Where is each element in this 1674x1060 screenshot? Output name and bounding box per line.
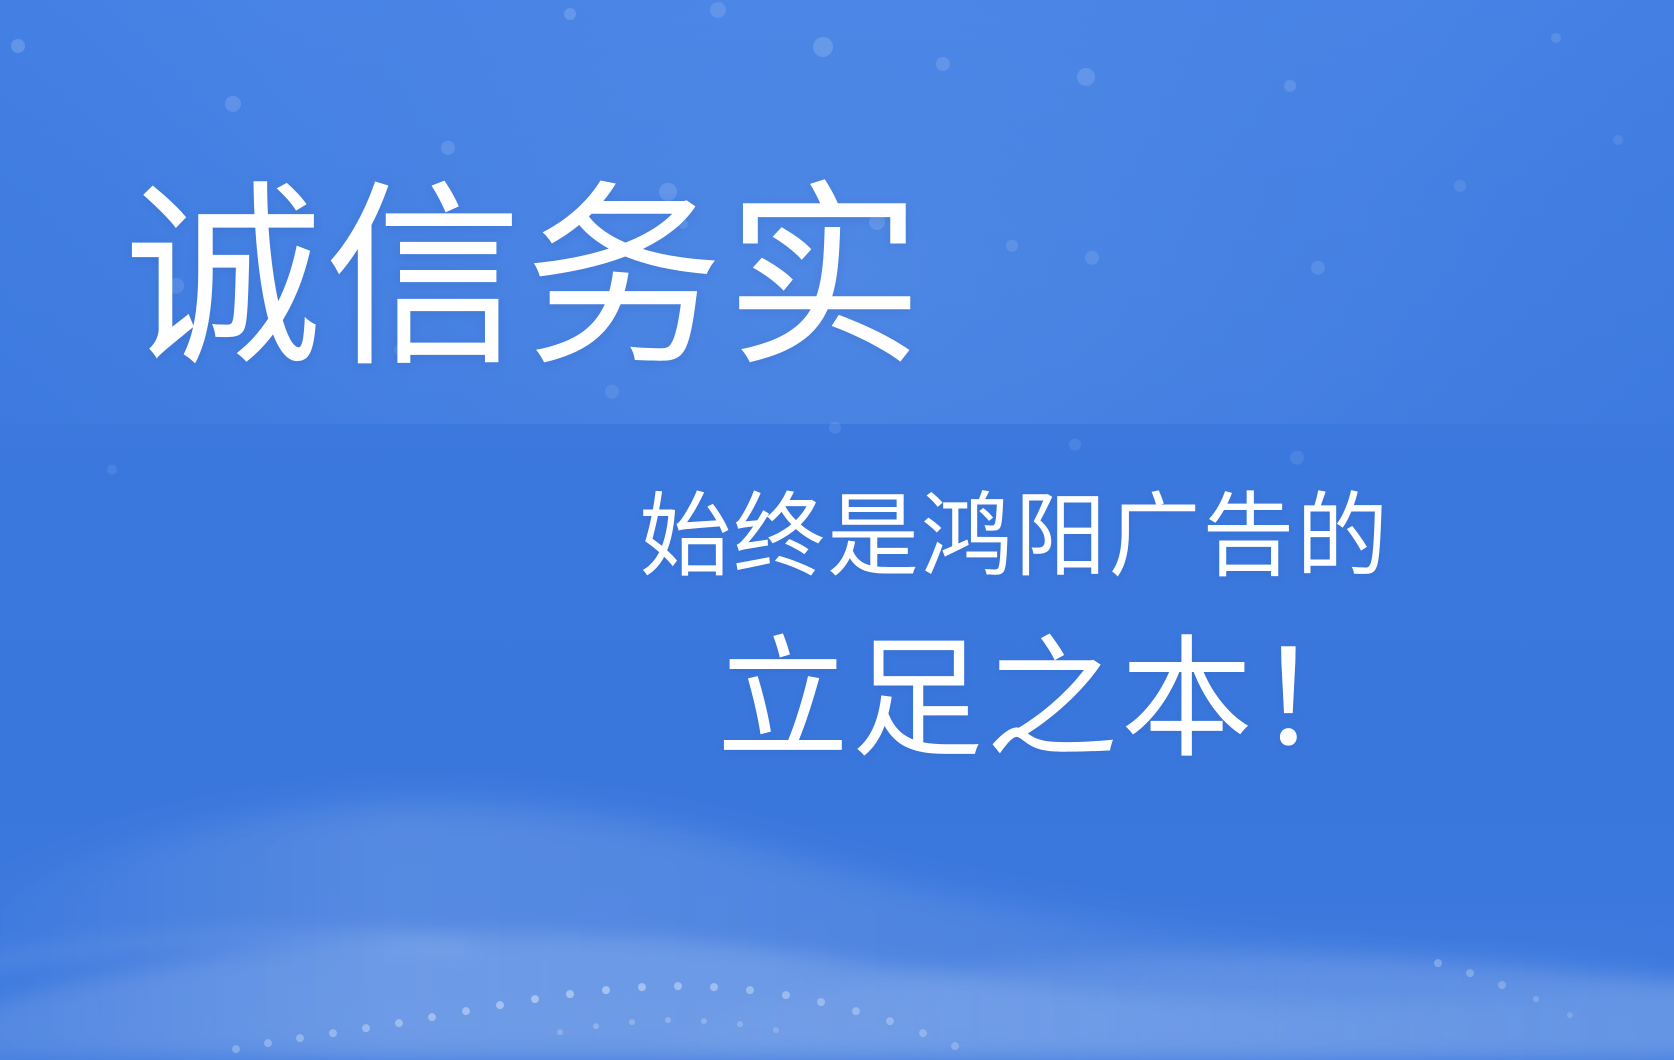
subtitle-line-1: 始终是鸿阳广告的 (639, 486, 1390, 589)
subtitle-block: 始终是鸿阳广告的 立足之本！ (639, 486, 1390, 776)
page-title: 诚信务实 (124, 175, 926, 383)
promo-slide: 诚信务实 始终是鸿阳广告的 立足之本！ (0, 0, 1674, 1060)
slide-content: 诚信务实 始终是鸿阳广告的 立足之本！ (0, 0, 1674, 1060)
subtitle-line-2: 立足之本！ (639, 623, 1390, 776)
